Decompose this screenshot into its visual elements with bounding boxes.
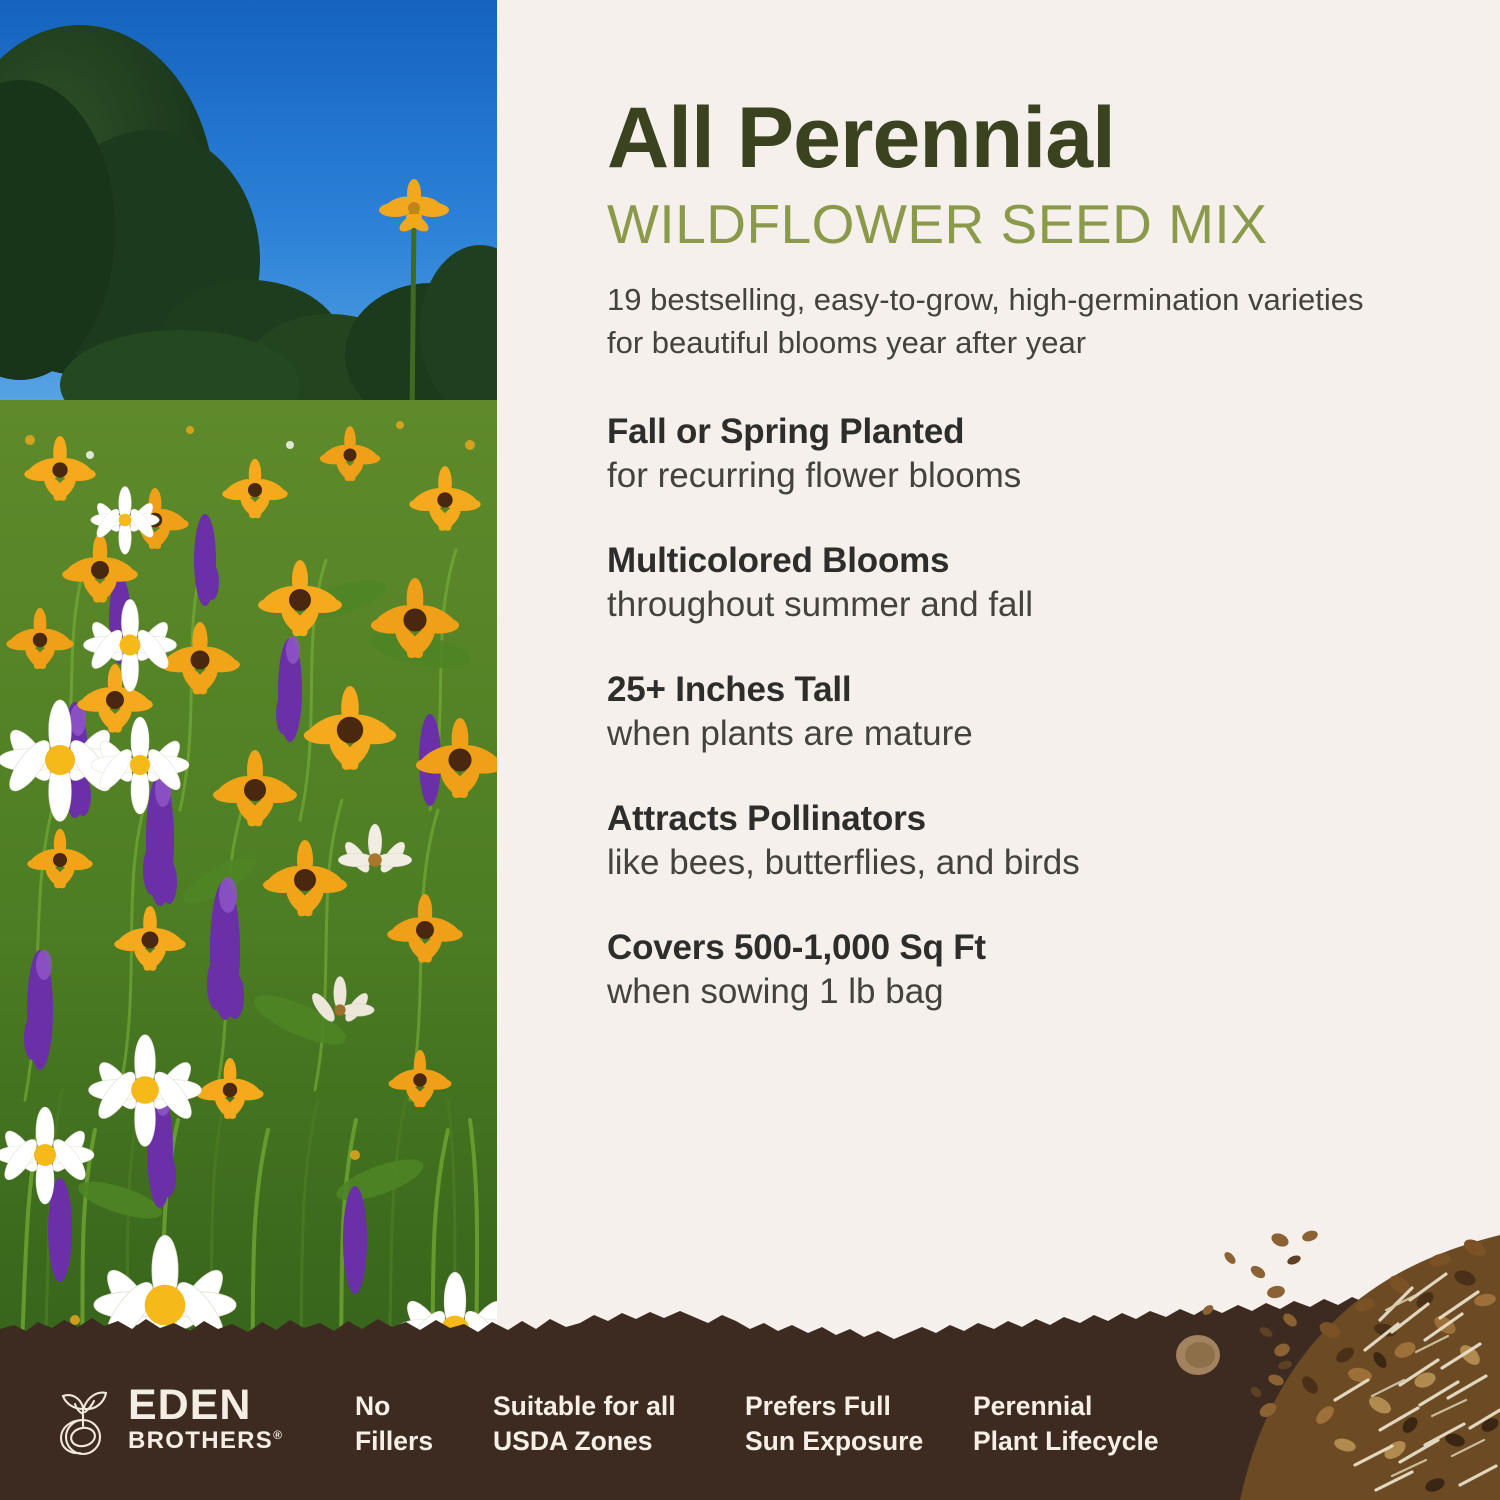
- badge-sun-exposure: Prefers Full Sun Exposure: [745, 1389, 923, 1458]
- feature-heading: 25+ Inches Tall: [607, 669, 1460, 710]
- feature-subtext: for recurring flower blooms: [607, 454, 1460, 498]
- feature-subtext: like bees, butterflies, and birds: [607, 841, 1460, 885]
- badge-line2: USDA Zones: [493, 1424, 676, 1458]
- seed-pile-image: [1080, 1200, 1500, 1500]
- brand-subname: BROTHERS®: [128, 1428, 283, 1454]
- feature-item: Covers 500-1,000 Sq Ft when sowing 1 lb …: [607, 927, 1460, 1014]
- registered-mark: ®: [273, 1428, 283, 1442]
- badge-line2: Fillers: [355, 1424, 433, 1458]
- badge-no-fillers: No Fillers: [355, 1389, 433, 1458]
- brand-name: EDEN: [128, 1385, 283, 1426]
- feature-heading: Multicolored Blooms: [607, 540, 1460, 581]
- feature-subtext: when sowing 1 lb bag: [607, 970, 1460, 1014]
- footer-bar: EDEN BROTHERS® No Fillers Suitable for a…: [0, 1285, 1500, 1500]
- feature-subtext: throughout summer and fall: [607, 583, 1460, 627]
- tagline: 19 bestselling, easy-to-grow, high-germi…: [607, 278, 1397, 365]
- feature-item: Fall or Spring Planted for recurring flo…: [607, 411, 1460, 498]
- feature-subtext: when plants are mature: [607, 712, 1460, 756]
- badge-line1: Prefers Full: [745, 1389, 923, 1423]
- badge-usda-zones: Suitable for all USDA Zones: [493, 1389, 676, 1458]
- seed-sprout-icon: [52, 1382, 114, 1458]
- brand-logo[interactable]: EDEN BROTHERS®: [52, 1382, 302, 1458]
- page-title: All Perennial: [607, 95, 1460, 181]
- badge-line1: Suitable for all: [493, 1389, 676, 1423]
- feature-heading: Covers 500-1,000 Sq Ft: [607, 927, 1460, 968]
- feature-list: Fall or Spring Planted for recurring flo…: [607, 411, 1460, 1014]
- feature-item: Multicolored Blooms throughout summer an…: [607, 540, 1460, 627]
- feature-heading: Fall or Spring Planted: [607, 411, 1460, 452]
- feature-heading: Attracts Pollinators: [607, 798, 1460, 839]
- wildflower-meadow-photo: [0, 0, 497, 1500]
- brand-subname-text: BROTHERS: [128, 1427, 273, 1454]
- feature-item: Attracts Pollinators like bees, butterfl…: [607, 798, 1460, 885]
- meadow-illustration: [0, 0, 497, 1500]
- product-infographic: All Perennial WILDFLOWER SEED MIX 19 bes…: [0, 0, 1500, 1500]
- badge-line2: Sun Exposure: [745, 1424, 923, 1458]
- feature-item: 25+ Inches Tall when plants are mature: [607, 669, 1460, 756]
- brand-wordmark: EDEN BROTHERS®: [128, 1385, 283, 1454]
- badge-line1: No: [355, 1389, 433, 1423]
- page-subtitle: WILDFLOWER SEED MIX: [607, 197, 1460, 252]
